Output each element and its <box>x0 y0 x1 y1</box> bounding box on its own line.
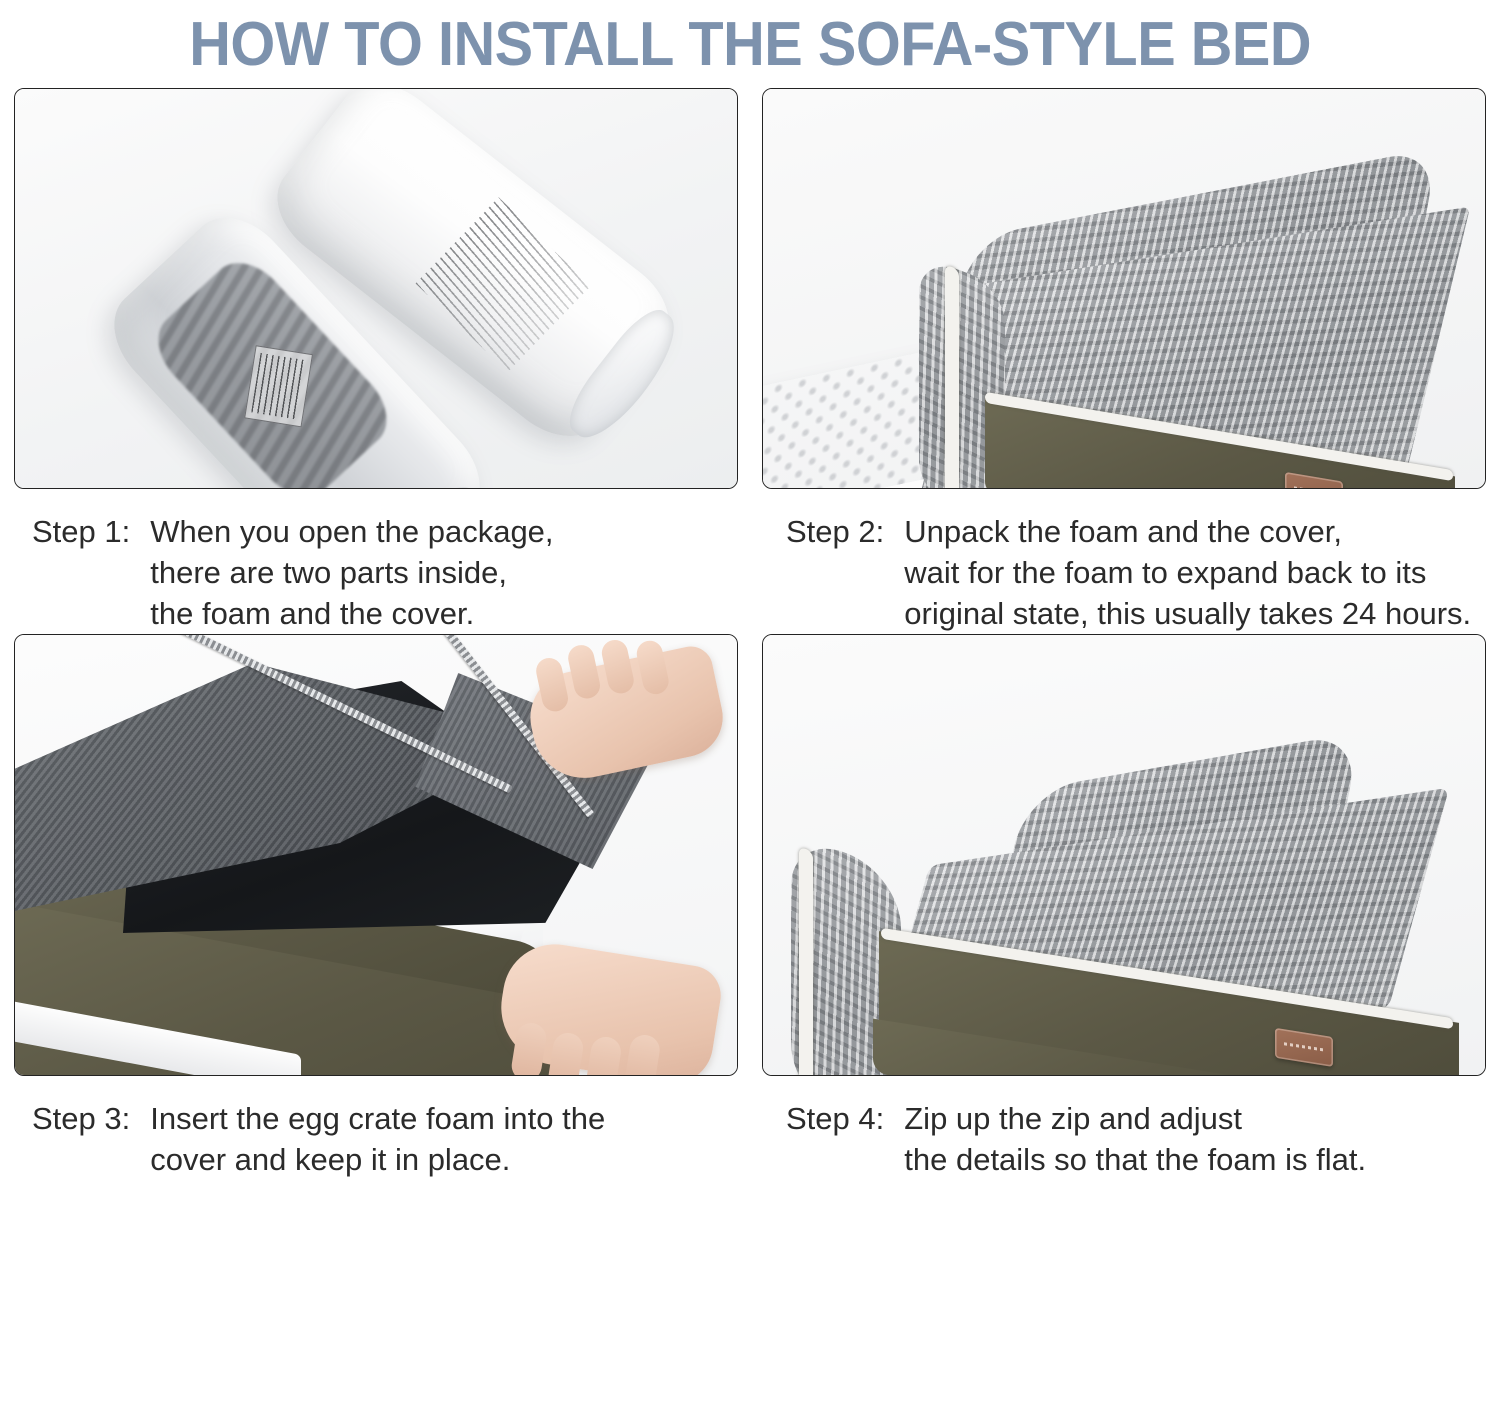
step-4-caption: Step 4: Zip up the zip and adjust the de… <box>762 1076 1486 1180</box>
step-2-cell: Step 2: Unpack the foam and the cover, w… <box>762 88 1486 634</box>
step-2-line-2: wait for the foam to expand back to its <box>904 552 1471 593</box>
step-3-label: Step 3: <box>32 1098 150 1180</box>
packaged-rolls-photo <box>14 88 738 489</box>
step-4-line-1: Zip up the zip and adjust <box>904 1098 1366 1139</box>
finger <box>623 1033 662 1076</box>
step-1-caption: Step 1: When you open the package, there… <box>14 489 738 634</box>
leather-brand-tag <box>1285 472 1343 489</box>
warning-label <box>244 345 313 427</box>
step-1-line-1: When you open the package, <box>150 511 553 552</box>
step-2-body: Unpack the foam and the cover, wait for … <box>904 511 1471 634</box>
step-1-line-3: the foam and the cover. <box>150 593 553 634</box>
step-3-line-2: cover and keep it in place. <box>150 1139 605 1180</box>
white-piping-left <box>945 264 959 489</box>
steps-grid: Step 1: When you open the package, there… <box>0 88 1500 1180</box>
finished-bed-art <box>763 635 1485 1075</box>
unpacked-foam-and-cover-photo <box>762 88 1486 489</box>
step-1-label: Step 1: <box>32 511 150 634</box>
step-3-line-1: Insert the egg crate foam into the <box>150 1098 605 1139</box>
step-2-line-3: original state, this usually takes 24 ho… <box>904 593 1471 634</box>
printed-warning-text <box>415 197 590 372</box>
inserting-foam-art <box>15 635 737 1075</box>
step-4-line-2: the details so that the foam is flat. <box>904 1139 1366 1180</box>
step-3-caption: Step 3: Insert the egg crate foam into t… <box>14 1076 738 1180</box>
page-header: HOW TO INSTALL THE SOFA-STYLE BED <box>0 0 1500 88</box>
leather-brand-tag <box>1275 1028 1333 1067</box>
unpacked-art <box>763 89 1485 488</box>
step-2-label: Step 2: <box>786 511 904 634</box>
step-4-body: Zip up the zip and adjust the details so… <box>904 1098 1366 1180</box>
olive-base <box>783 763 1473 1076</box>
step-1-cell: Step 1: When you open the package, there… <box>14 88 738 634</box>
step-2-line-1: Unpack the foam and the cover, <box>904 511 1471 552</box>
finished-bed-photo <box>762 634 1486 1076</box>
finger <box>584 1035 623 1076</box>
packaged-rolls-art <box>15 89 737 488</box>
step-3-body: Insert the egg crate foam into the cover… <box>150 1098 605 1180</box>
white-piping-left <box>799 846 813 1076</box>
step-3-cell: Step 3: Insert the egg crate foam into t… <box>14 634 738 1180</box>
step-2-caption: Step 2: Unpack the foam and the cover, w… <box>762 489 1486 634</box>
page-title: HOW TO INSTALL THE SOFA-STYLE BED <box>189 14 1311 76</box>
finger <box>546 1031 585 1076</box>
step-4-cell: Step 4: Zip up the zip and adjust the de… <box>762 634 1486 1180</box>
inserting-foam-photo <box>14 634 738 1076</box>
step-4-label: Step 4: <box>786 1098 904 1180</box>
step-1-body: When you open the package, there are two… <box>150 511 553 634</box>
step-1-line-2: there are two parts inside, <box>150 552 553 593</box>
olive-cover <box>911 193 1441 489</box>
